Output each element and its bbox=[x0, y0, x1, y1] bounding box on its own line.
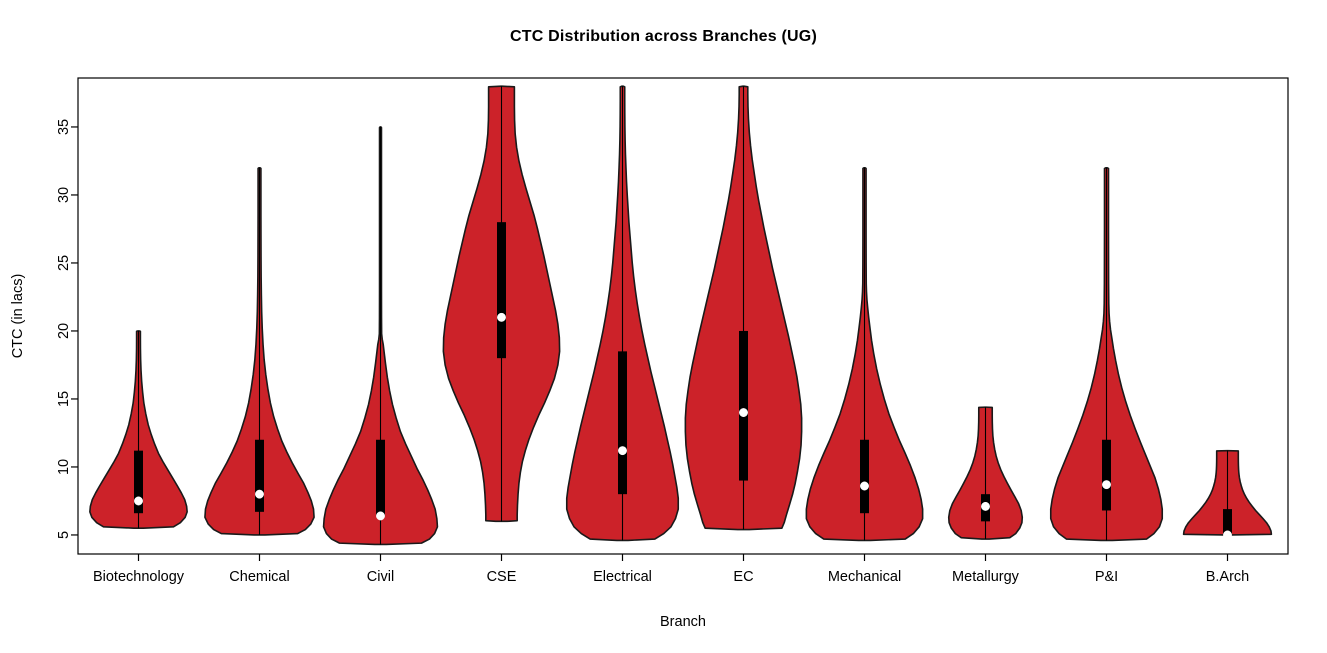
x-axis-label: Branch bbox=[660, 614, 706, 630]
violin-cse[interactable] bbox=[443, 86, 559, 521]
violin-mechanical[interactable] bbox=[806, 168, 922, 541]
iqr-box bbox=[376, 440, 385, 516]
x-tick-label: Metallurgy bbox=[952, 569, 1020, 585]
iqr-box bbox=[860, 440, 869, 513]
median-point bbox=[255, 490, 263, 498]
median-point bbox=[618, 446, 626, 454]
y-tick-label: 25 bbox=[56, 255, 72, 271]
x-tick-label: Civil bbox=[367, 569, 394, 585]
y-tick-label: 5 bbox=[56, 531, 72, 539]
x-tick-label: Biotechnology bbox=[93, 569, 185, 585]
median-point bbox=[1223, 531, 1231, 539]
x-tick-label: Electrical bbox=[593, 569, 652, 585]
median-point bbox=[981, 502, 989, 510]
y-axis: 5101520253035CTC (in lacs) bbox=[10, 119, 78, 539]
violin-chemical[interactable] bbox=[205, 168, 314, 535]
iqr-box bbox=[1102, 440, 1111, 511]
y-tick-label: 10 bbox=[56, 459, 72, 475]
y-tick-label: 15 bbox=[56, 391, 72, 407]
median-point bbox=[1102, 480, 1110, 488]
median-point bbox=[134, 497, 142, 505]
y-tick-label: 35 bbox=[56, 119, 72, 135]
violin-civil[interactable] bbox=[324, 127, 438, 545]
median-point bbox=[376, 512, 384, 520]
iqr-box bbox=[739, 331, 748, 481]
y-axis-label: CTC (in lacs) bbox=[10, 274, 26, 359]
median-point bbox=[860, 482, 868, 490]
iqr-box bbox=[497, 222, 506, 358]
violin-electrical[interactable] bbox=[567, 86, 679, 540]
violin-b-arch[interactable] bbox=[1184, 451, 1272, 540]
median-point bbox=[497, 313, 505, 321]
chart-root: CTC Distribution across Branches (UG) 51… bbox=[0, 0, 1327, 653]
x-tick-label: CSE bbox=[487, 569, 517, 585]
y-tick-label: 30 bbox=[56, 187, 72, 203]
x-tick-label: EC bbox=[733, 569, 753, 585]
y-tick-label: 20 bbox=[56, 323, 72, 339]
x-axis: BiotechnologyChemicalCivilCSEElectricalE… bbox=[93, 554, 1249, 630]
x-tick-label: Chemical bbox=[229, 569, 289, 585]
violin-plot-svg: 5101520253035CTC (in lacs)BiotechnologyC… bbox=[0, 0, 1327, 653]
violin-ec[interactable] bbox=[685, 86, 801, 529]
violin-metallurgy[interactable] bbox=[949, 407, 1023, 539]
violin-biotechnology[interactable] bbox=[90, 331, 187, 528]
x-tick-label: Mechanical bbox=[828, 569, 901, 585]
x-tick-label: P&I bbox=[1095, 569, 1118, 585]
median-point bbox=[739, 408, 747, 416]
x-tick-label: B.Arch bbox=[1206, 569, 1250, 585]
iqr-box bbox=[255, 440, 264, 512]
iqr-box bbox=[618, 351, 627, 494]
violin-p-i[interactable] bbox=[1051, 168, 1163, 541]
